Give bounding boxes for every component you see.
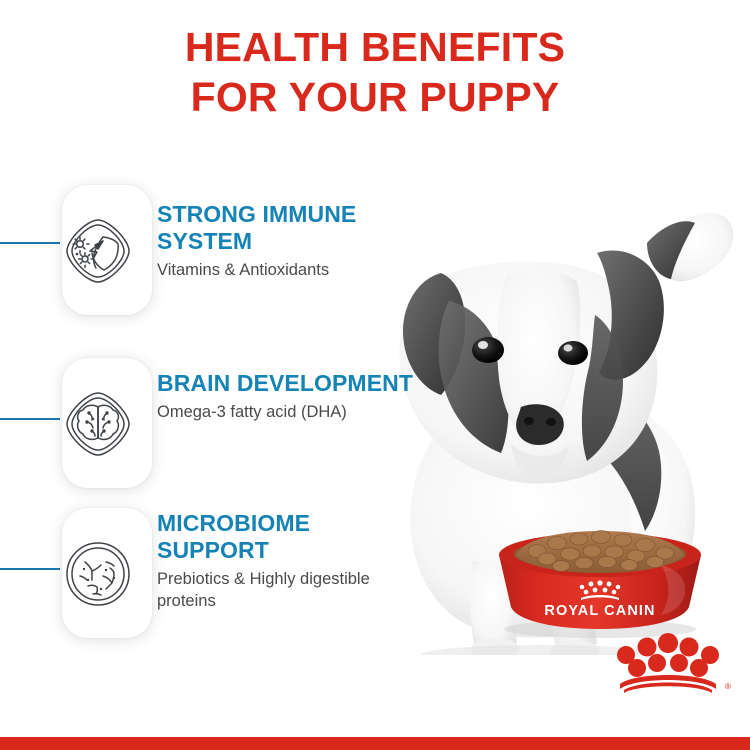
benefit-heading: STRONG IMMUNE SYSTEM <box>157 201 417 255</box>
benefit-texts: BRAIN DEVELOPMENT Omega-3 fatty acid (DH… <box>157 370 417 423</box>
microbiome-bacteria-icon <box>62 538 134 610</box>
connector-line <box>0 242 60 244</box>
royal-canin-crown-logo: ® <box>604 626 732 698</box>
benefit-texts: MICROBIOME SUPPORT Prebiotics & Highly d… <box>157 510 417 612</box>
benefit-heading: BRAIN DEVELOPMENT <box>157 370 417 397</box>
benefit-immune-system[interactable]: STRONG IMMUNE SYSTEM Vitamins & Antioxid… <box>0 185 430 335</box>
connector-line <box>0 568 60 570</box>
benefit-texts: STRONG IMMUNE SYSTEM Vitamins & Antioxid… <box>157 201 417 281</box>
registered-mark: ® <box>725 682 731 691</box>
benefit-subtitle: Prebiotics & Highly digestible proteins <box>157 568 417 612</box>
shield-germs-icon <box>62 215 134 287</box>
brain-icon <box>62 388 134 460</box>
benefit-subtitle: Vitamins & Antioxidants <box>157 259 417 281</box>
bottom-red-bar <box>0 737 750 750</box>
benefit-microbiome-support[interactable]: MICROBIOME SUPPORT Prebiotics & Highly d… <box>0 500 430 650</box>
title-line-1: HEALTH BENEFITS <box>185 24 565 70</box>
benefit-brain-development[interactable]: BRAIN DEVELOPMENT Omega-3 fatty acid (DH… <box>0 348 430 498</box>
page-title: HEALTH BENEFITS FOR YOUR PUPPY <box>0 22 750 122</box>
benefit-heading: MICROBIOME SUPPORT <box>157 510 417 564</box>
bowl-logo-text: ROYAL CANIN <box>544 603 655 619</box>
benefit-subtitle: Omega-3 fatty acid (DHA) <box>157 401 417 423</box>
title-line-2: FOR YOUR PUPPY <box>0 72 750 122</box>
dog-food-bowl: ROYAL CANIN <box>485 525 715 640</box>
connector-line <box>0 418 60 420</box>
poster-canvas: HEALTH BENEFITS FOR YOUR PUPPY <box>0 0 750 750</box>
